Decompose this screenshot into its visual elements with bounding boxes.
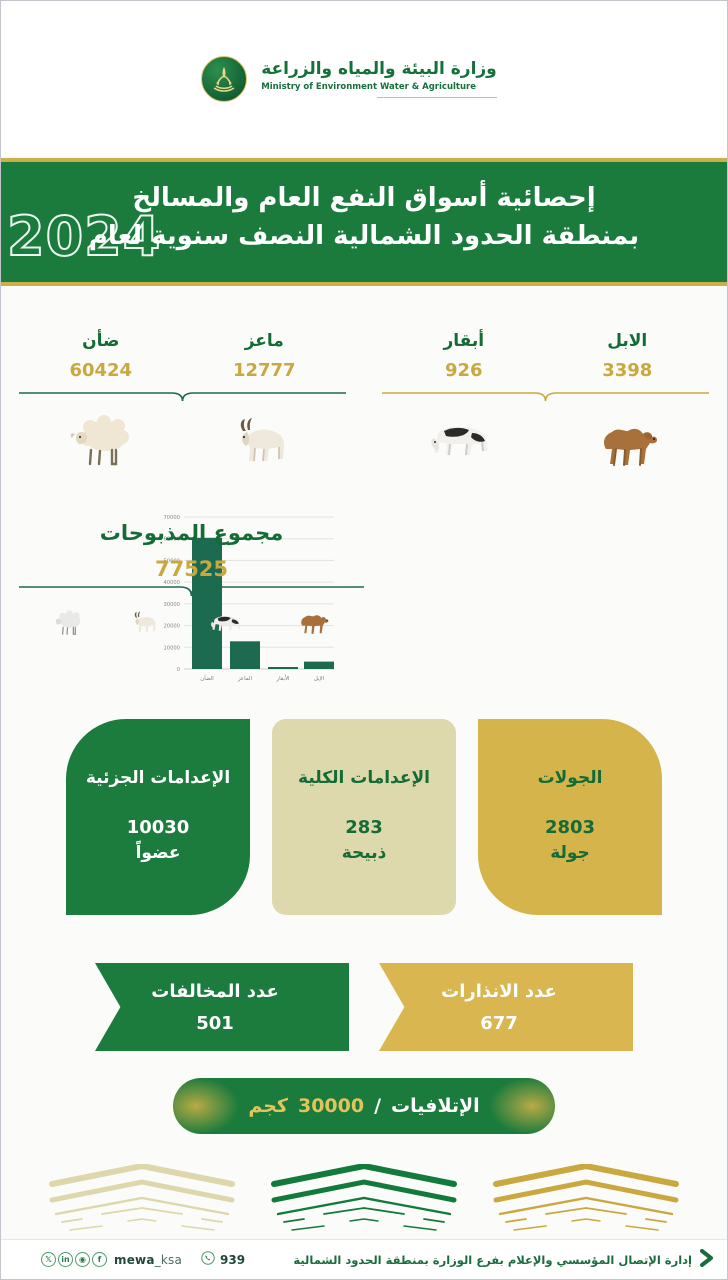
wave-group-green-icon <box>264 1164 464 1244</box>
social-handle-light: _ksa <box>155 1253 182 1267</box>
card-partial-condemnations-unit: عضواً <box>136 841 181 867</box>
stat-cow-label: أبقار <box>382 331 546 351</box>
cow-icon <box>206 607 250 641</box>
title-text-block: إحصائية أسواق النفع العام والمسالخ بمنطق… <box>1 162 727 255</box>
footer-department-block: إدارة الإتصال المؤسسي والإعلام بفرع الوز… <box>293 1249 715 1271</box>
sheep-icon <box>19 409 183 503</box>
card-rounds-unit: جولة <box>550 841 590 867</box>
stat-camel-value: 3398 <box>546 360 710 381</box>
animal-group-gold: الابل 3398 أبقار 926 <box>364 331 727 503</box>
card-rounds-number: 2803 <box>545 814 595 841</box>
sheep-icon <box>50 607 86 641</box>
stat-cards-row: الجولات 2803 جولة الإعدامات الكلية 283 ذ… <box>1 719 727 915</box>
animal-group-green: ماعز 12777 ضأن 60424 <box>1 331 364 503</box>
arrow-banners-row: عدد الانذارات 677 عدد المخالفات 501 <box>1 963 727 1053</box>
linkedin-icon[interactable]: in <box>58 1252 73 1267</box>
phone-number: 939 <box>220 1253 245 1267</box>
card-total-condemnations-number: 283 <box>345 814 383 841</box>
social-handle: mewa_ksa <box>114 1253 182 1267</box>
banner-violations-number: 501 <box>196 1013 248 1034</box>
destruction-pill: الإتلافيات / 30000 كجم <box>173 1078 555 1134</box>
destruction-label: الإتلافيات <box>391 1095 480 1117</box>
banner-violations-title: عدد المخالفات <box>151 981 293 1002</box>
card-partial-condemnations: الإعدامات الجزئية 10030 عضواً <box>66 719 250 915</box>
page-footer: 𝕏 in ◉ f mewa_ksa 939 <box>1 1239 727 1279</box>
destruction-pill-wrap: الإتلافيات / 30000 كجم <box>1 1078 727 1134</box>
card-total-condemnations-unit: ذبيحة <box>342 841 387 867</box>
svg-text:10000: 10000 <box>163 645 180 651</box>
ministry-logo: وزارة البيئة والمياه والزراعة Ministry o… <box>201 56 497 102</box>
total-bracket-divider <box>19 585 364 599</box>
total-animal-icons <box>19 605 364 641</box>
banner-warnings-title: عدد الانذارات <box>441 981 571 1002</box>
banner-warnings-number: 677 <box>480 1013 532 1034</box>
total-slaughtered-label: مجموع المذبوحات <box>19 521 364 545</box>
total-slaughtered-block: مجموع المذبوحات 77525 <box>19 521 364 641</box>
destruction-separator: / <box>374 1095 381 1117</box>
card-rounds: الجولات 2803 جولة <box>478 719 662 915</box>
svg-text:الأبقار: الأبقار <box>275 674 289 682</box>
wave-group-gold-icon <box>486 1164 686 1244</box>
title-line-2: بمنطقة الحدود الشمالية النصف سنوية لعام <box>1 218 727 256</box>
social-icons-group: 𝕏 in ◉ f <box>41 1252 107 1267</box>
footer-department-text: إدارة الإتصال المؤسسي والإعلام بفرع الوز… <box>293 1253 692 1267</box>
instagram-icon[interactable]: ◉ <box>75 1252 90 1267</box>
ministry-name-arabic: وزارة البيئة والمياه والزراعة <box>261 59 497 79</box>
svg-text:0: 0 <box>177 667 180 673</box>
svg-text:الماعز: الماعز <box>237 676 252 682</box>
stat-camel-label: الابل <box>546 331 710 351</box>
svg-text:الضأن: الضأن <box>200 674 213 682</box>
green-bracket-divider <box>19 391 346 403</box>
banner-warnings: عدد الانذارات 677 <box>379 963 633 1051</box>
gold-bracket-divider <box>382 391 709 403</box>
cow-icon <box>382 409 546 503</box>
goat-icon <box>183 409 347 503</box>
ministry-logo-text: وزارة البيئة والمياه والزراعة Ministry o… <box>261 59 497 98</box>
phone-block: 939 <box>201 1250 245 1269</box>
destruction-value: 30000 <box>298 1095 364 1117</box>
wave-group-beige-icon <box>42 1164 242 1244</box>
goat-icon <box>129 607 163 641</box>
total-slaughtered-value: 77525 <box>19 557 364 581</box>
stat-sheep-value: 60424 <box>19 360 183 381</box>
stat-sheep-label: ضأن <box>19 331 183 351</box>
stat-sheep: ضأن 60424 <box>19 331 183 381</box>
saudi-palm-swords-emblem-icon <box>201 56 247 102</box>
stat-goat: ماعز 12777 <box>183 331 347 381</box>
svg-text:الإبل: الإبل <box>314 676 324 682</box>
card-total-condemnations-title: الإعدامات الكلية <box>298 768 430 788</box>
card-total-condemnations: الإعدامات الكلية 283 ذبيحة <box>272 719 456 915</box>
x-twitter-icon[interactable]: 𝕏 <box>41 1252 56 1267</box>
card-rounds-title: الجولات <box>538 768 603 788</box>
infographic-page: وزارة البيئة والمياه والزراعة Ministry o… <box>0 0 728 1280</box>
phone-icon <box>201 1250 215 1269</box>
title-banner: 2024 إحصائية أسواق النفع العام والمسالخ … <box>1 158 727 286</box>
stat-cow-value: 926 <box>382 360 546 381</box>
chevron-right-icon <box>699 1249 715 1271</box>
banner-violations: عدد المخالفات 501 <box>95 963 349 1051</box>
camel-icon <box>546 409 710 503</box>
stat-goat-value: 12777 <box>183 360 347 381</box>
footer-social-block: 𝕏 in ◉ f mewa_ksa 939 <box>41 1250 245 1269</box>
stat-cow: أبقار 926 <box>382 331 546 381</box>
stat-goat-label: ماعز <box>183 331 347 351</box>
ministry-name-english: Ministry of Environment Water & Agricult… <box>261 82 497 92</box>
card-partial-condemnations-number: 10030 <box>127 814 190 841</box>
page-header: وزارة البيئة والمياه والزراعة Ministry o… <box>1 1 727 156</box>
card-partial-condemnations-title: الإعدامات الجزئية <box>86 768 230 788</box>
facebook-icon[interactable]: f <box>92 1252 107 1267</box>
social-handle-bold: mewa <box>114 1253 155 1267</box>
destruction-unit: كجم <box>248 1095 288 1117</box>
chart-and-total-section: 70000 60000 50000 40000 30000 20000 1000… <box>1 501 727 701</box>
decorative-waves <box>1 1164 727 1244</box>
title-line-1: إحصائية أسواق النفع العام والمسالخ <box>1 180 727 218</box>
animal-stats-section: الابل 3398 أبقار 926 <box>1 331 727 503</box>
stat-camel: الابل 3398 <box>546 331 710 381</box>
logo-divider <box>377 97 497 98</box>
camel-icon <box>293 605 333 641</box>
